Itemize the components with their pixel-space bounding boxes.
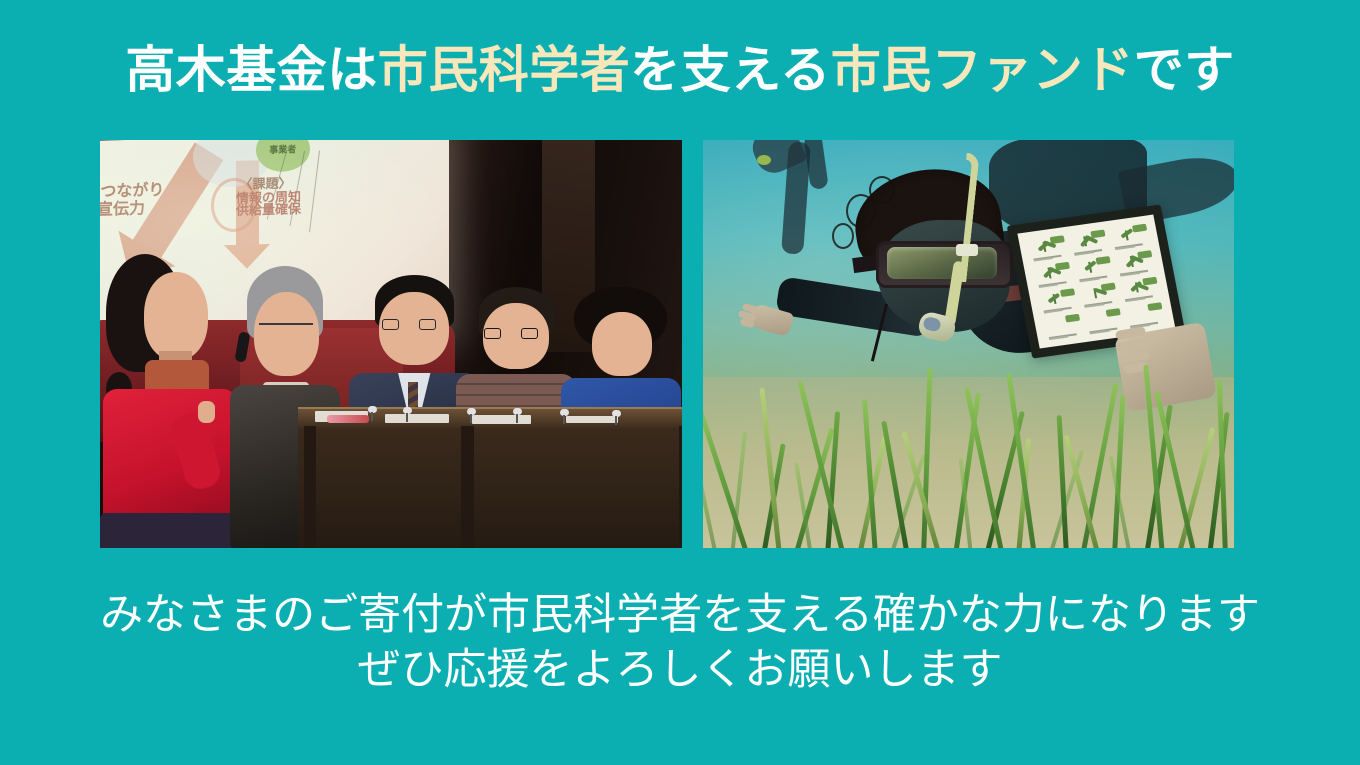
plant-illustration bbox=[1125, 279, 1147, 296]
seagrass-blade bbox=[703, 456, 718, 548]
donation-caption: みなさまのご寄付が市民科学者を支える確かな力になります ぜひ応援をよろしくお願い… bbox=[0, 588, 1360, 698]
id-chart-cell bbox=[1027, 235, 1069, 263]
seagrass-blade bbox=[1217, 380, 1228, 548]
plant-illustration bbox=[1079, 258, 1101, 275]
desk-microphone bbox=[612, 410, 621, 417]
page-title: 高木基金は市民科学者を支える市民ファンドです bbox=[0, 40, 1360, 101]
title-segment-1: 高木基金は bbox=[125, 41, 378, 99]
id-chart-cell bbox=[1043, 313, 1085, 341]
slide-canvas: { "theme": { "background_color": "#0BAFB… bbox=[0, 0, 1360, 765]
glasses bbox=[259, 323, 313, 329]
glasses-right-lens bbox=[419, 319, 436, 330]
id-chart-cell bbox=[1110, 223, 1152, 251]
plant-illustration bbox=[1074, 232, 1096, 249]
table-leg bbox=[461, 426, 474, 548]
plant-illustration bbox=[1043, 290, 1065, 307]
desk-microphone bbox=[403, 407, 412, 414]
panelist-woman-red bbox=[106, 254, 246, 548]
face bbox=[592, 312, 652, 376]
panel-scene: 事業者 のつながり 宣伝力 〈課題〉 情報の周知 供給量確保 bbox=[100, 140, 682, 548]
face bbox=[144, 272, 208, 360]
paper-document bbox=[385, 414, 449, 423]
color-swatch bbox=[1148, 303, 1163, 312]
id-chart-cell bbox=[1074, 255, 1116, 283]
id-chart-cell bbox=[1115, 249, 1157, 277]
desk-microphone bbox=[467, 408, 476, 415]
slide-text-right-2: 供給量確保 bbox=[236, 202, 301, 220]
seagrass-blade bbox=[965, 387, 1006, 548]
desk-microphone bbox=[368, 406, 377, 413]
paper-document bbox=[472, 415, 530, 423]
desk-microphone bbox=[560, 409, 569, 416]
glasses-left-lens bbox=[484, 328, 501, 339]
id-chart-cell bbox=[1125, 301, 1167, 329]
glasses-left-lens bbox=[382, 319, 399, 330]
plant-illustration bbox=[1033, 238, 1055, 255]
slide-lead-line bbox=[309, 151, 320, 233]
paper-document bbox=[566, 416, 618, 423]
id-chart-cell bbox=[1037, 287, 1079, 315]
table-leg bbox=[304, 426, 317, 548]
plant-illustration bbox=[1038, 264, 1060, 281]
title-segment-3: を支える bbox=[630, 41, 831, 99]
mask-lens bbox=[887, 247, 997, 279]
underwater-seagrass-survey-photo: 海草藻場の上で、マスクとスノーケルを着けた調査者が海草同定シートを持って泳いでい… bbox=[703, 140, 1234, 548]
glasses-right-lens bbox=[521, 328, 538, 339]
table-leg bbox=[679, 426, 682, 548]
id-chart-cell bbox=[1068, 229, 1110, 257]
title-segment-2-accent: 市民科学者 bbox=[378, 41, 631, 99]
caption-line-2: ぜひ応援をよろしくお願いします bbox=[0, 643, 1360, 698]
hand bbox=[198, 401, 215, 423]
face bbox=[254, 292, 319, 376]
color-swatch bbox=[1065, 314, 1080, 323]
id-chart-cell bbox=[1079, 281, 1121, 309]
slide-badge-label: 事業者 bbox=[270, 142, 297, 156]
slide-text-left-2: 宣伝力 bbox=[100, 199, 145, 220]
plant-illustration bbox=[1115, 227, 1137, 244]
panel-discussion-photo: 事業者 のつながり 宣伝力 〈課題〉 情報の周知 供給量確保 bbox=[100, 140, 682, 548]
lap bbox=[100, 513, 245, 548]
id-chart-cell bbox=[1120, 275, 1162, 303]
panel-table bbox=[298, 409, 682, 548]
title-segment-4-accent: 市民ファンド bbox=[831, 41, 1134, 99]
plant-illustration bbox=[1084, 284, 1106, 301]
photo-row: 事業者 のつながり 宣伝力 〈課題〉 情報の周知 供給量確保 bbox=[100, 140, 1234, 548]
snorkel-clip bbox=[956, 244, 978, 256]
plant-illustration bbox=[1120, 253, 1142, 270]
id-chart-grid bbox=[1027, 223, 1166, 341]
id-chart-cell bbox=[1032, 261, 1074, 289]
underwater-scene bbox=[703, 140, 1234, 548]
pink-desk-object bbox=[327, 415, 369, 423]
seagrass-meadow bbox=[703, 352, 1234, 548]
hair-wisp bbox=[832, 223, 854, 249]
title-segment-5: です bbox=[1134, 41, 1235, 99]
color-swatch bbox=[1106, 308, 1121, 317]
caption-line-1: みなさまのご寄付が市民科学者を支える確かな力になります bbox=[0, 588, 1360, 643]
hair-wisp bbox=[869, 176, 895, 204]
